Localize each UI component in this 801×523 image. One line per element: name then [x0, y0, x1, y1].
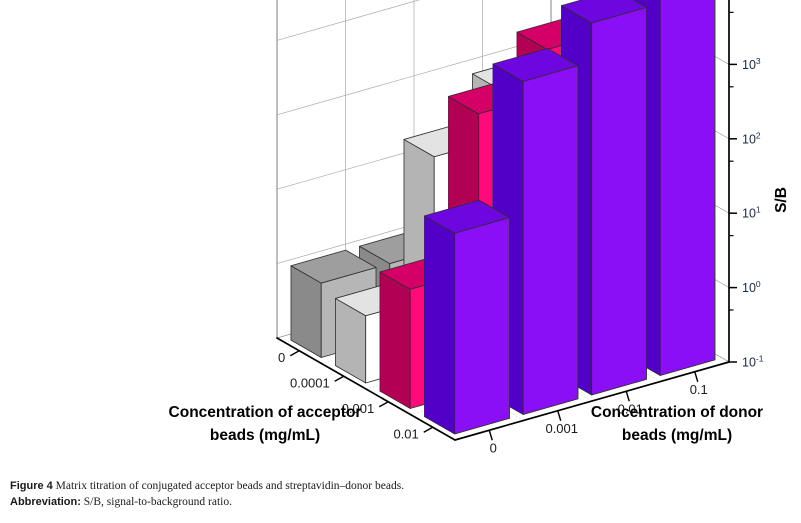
value-tick-label-103: 103	[742, 56, 761, 72]
caption-figure-text: Matrix titration of conjugated acceptor …	[53, 480, 404, 492]
donor-tick-label-0: 0	[490, 440, 497, 455]
donor-tick	[695, 372, 698, 382]
donor-tick-label-0.1: 0.1	[690, 382, 708, 397]
acceptor-tick	[424, 427, 433, 432]
value-axis-title: S/B	[773, 187, 790, 213]
bar-chart-3d: 0.010.0010.0001000.0010.010.110-11001011…	[0, 0, 801, 466]
caption-line-1: Figure 4 Matrix titration of conjugated …	[10, 478, 791, 494]
bar-face-front	[523, 66, 578, 415]
abbreviation-text: S/B, signal-to-background ratio.	[81, 496, 232, 508]
bar-face-front	[455, 218, 510, 434]
value-tick-label-100: 100	[742, 279, 761, 295]
acceptor-tick	[290, 351, 299, 356]
donor-tick	[626, 391, 629, 401]
donor-tick	[489, 430, 492, 440]
value-tick-label-101: 101	[742, 205, 761, 221]
caption-line-2: Abbreviation: S/B, signal-to-background …	[10, 494, 791, 510]
bar-face-left	[380, 272, 410, 409]
donor-tick	[558, 411, 561, 421]
acceptor-axis-title-line2: beads (mg/mL)	[210, 427, 320, 444]
bar-face-front	[660, 0, 715, 375]
figure-caption: Figure 4 Matrix titration of conjugated …	[0, 466, 801, 523]
acceptor-tick-label-0: 0	[278, 350, 285, 365]
bar-face-front	[592, 7, 647, 395]
acceptor-tick	[379, 402, 388, 407]
donor-tick-label-0.001: 0.001	[545, 421, 578, 436]
figure-panel: 0.010.0010.0001000.0010.010.110-11001011…	[0, 0, 801, 466]
acceptor-tick-label-0.01: 0.01	[393, 426, 418, 441]
value-tick-label-10-1: 10-1	[742, 354, 764, 370]
bar-0.01-0	[424, 200, 509, 434]
value-tick-label-102: 102	[742, 130, 761, 146]
caption-figure-number: Figure 4	[10, 480, 53, 492]
abbreviation-label: Abbreviation:	[10, 496, 81, 508]
bar-face-left	[424, 216, 454, 434]
acceptor-tick	[335, 376, 344, 381]
donor-axis-title-line2: beads (mg/mL)	[622, 427, 732, 444]
donor-axis-title-line1: Concentration of donor	[591, 404, 763, 421]
acceptor-axis-title-line1: Concentration of acceptor	[169, 404, 362, 421]
acceptor-tick-label-0.0001: 0.0001	[290, 375, 330, 390]
